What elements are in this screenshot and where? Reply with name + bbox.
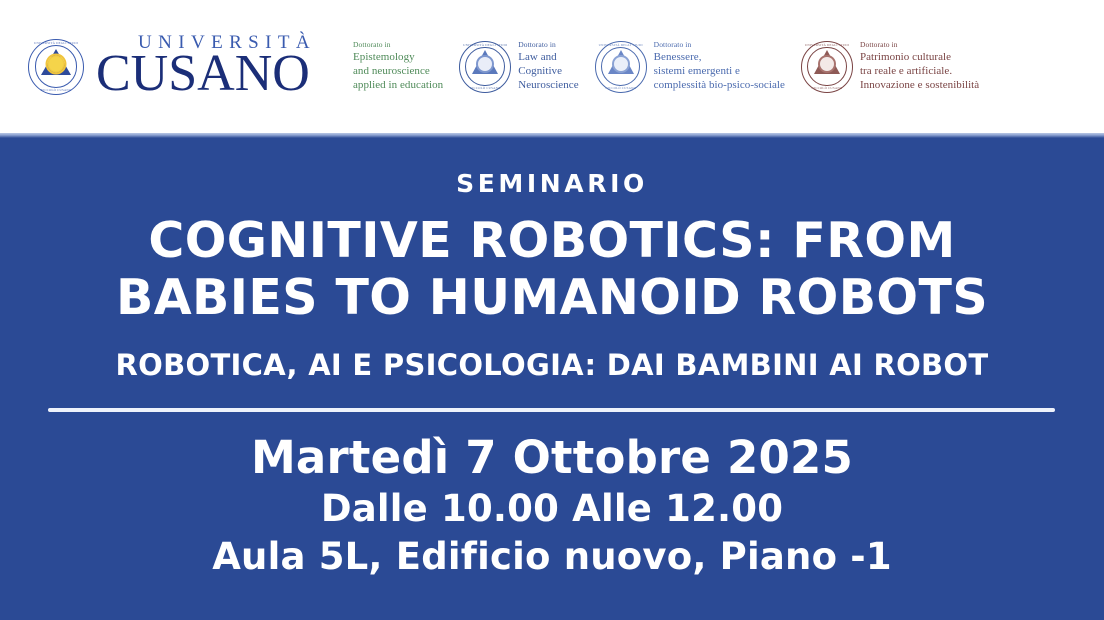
doctorate-block-epistemology: Dottorato in Epistemology and neuroscien… (346, 28, 443, 106)
cusano-seal-icon-benessere: UNIVERSITÀ DEGLI STUDI NICCOLÒ CUSANO (595, 41, 647, 93)
seminar-time: Dalle 10.00 Alle 12.00 (0, 487, 1104, 531)
doctorate-text: Dottorato in Benessere, sistemi emergent… (654, 40, 785, 92)
seal-text-top: UNIVERSITÀ DEGLI STUDI (801, 43, 853, 47)
doctorate-name-line-1: Patrimonio culturale (860, 51, 979, 65)
doctorate-text: Dottorato in Law and Cognitive Neuroscie… (518, 40, 578, 92)
doctorate-name-line-2: Cognitive (518, 65, 578, 79)
sun-face-icon (614, 57, 628, 71)
header-logo-bar: UNIVERSITÀ DEGLI STUDI NICCOLÒ CUSANO UN… (0, 0, 1104, 133)
doctorate-text: Dottorato in Patrimonio culturale tra re… (860, 40, 979, 92)
cusano-seal-icon-law: UNIVERSITÀ DEGLI STUDI NICCOLÒ CUSANO (459, 41, 511, 93)
doctorate-block-law-cognitive-neuroscience: UNIVERSITÀ DEGLI STUDI NICCOLÒ CUSANO Do… (459, 28, 578, 106)
doctorate-name-line-1: Law and (518, 51, 578, 65)
seminar-title-line-1: COGNITIVE ROBOTICS: FROM (0, 213, 1104, 270)
doctorate-kicker: Dottorato in (860, 40, 979, 49)
doctorate-kicker: Dottorato in (518, 40, 578, 49)
doctorate-name-line-3: complessità bio-psico-sociale (654, 79, 785, 93)
doctorate-name-line-3: Neuroscience (518, 79, 578, 93)
seal-text-top: UNIVERSITÀ DEGLI STUDI (459, 43, 511, 47)
university-wordmark: UNIVERSITÀ CUSANO (96, 33, 316, 100)
divider (48, 408, 1055, 412)
wordmark-cusano: CUSANO (96, 48, 316, 100)
doctorate-block-benessere: UNIVERSITÀ DEGLI STUDI NICCOLÒ CUSANO Do… (595, 28, 785, 106)
doctorate-kicker: Dottorato in (353, 40, 443, 49)
cusano-seal-icon-patrimonio: UNIVERSITÀ DEGLI STUDI NICCOLÒ CUSANO (801, 41, 853, 93)
seminar-kicker: SEMINARIO (0, 169, 1104, 198)
seal-text-bottom: NICCOLÒ CUSANO (801, 86, 853, 90)
doctorate-name-line-3: Innovazione e sostenibilità (860, 79, 979, 93)
seal-text-top: UNIVERSITÀ DEGLI STUDI (595, 43, 647, 47)
seal-text-bottom: NICCOLÒ CUSANO (459, 86, 511, 90)
seminar-location: Aula 5L, Edificio nuovo, Piano -1 (0, 535, 1104, 579)
doctorate-name-line-1: Benessere, (654, 51, 785, 65)
doctorate-name-line-1: Epistemology (353, 51, 443, 65)
doctorate-name-line-3: applied in education (353, 79, 443, 93)
universita-cusano-seal-icon: UNIVERSITÀ DEGLI STUDI NICCOLÒ CUSANO (28, 39, 84, 95)
doctorate-block-patrimonio-culturale: UNIVERSITÀ DEGLI STUDI NICCOLÒ CUSANO Do… (801, 28, 979, 106)
seminar-title-line-2: BABIES TO HUMANOID ROBOTS (0, 270, 1104, 327)
sun-face-icon (820, 57, 834, 71)
doctorate-kicker: Dottorato in (654, 40, 785, 49)
seal-text-bottom: NICCOLÒ CUSANO (595, 86, 647, 90)
doctorate-name-line-2: sistemi emergenti e (654, 65, 785, 79)
seminar-date: Martedì 7 Ottobre 2025 (0, 433, 1104, 483)
seminar-title: COGNITIVE ROBOTICS: FROM BABIES TO HUMAN… (0, 213, 1104, 327)
seminar-banner: SEMINARIO COGNITIVE ROBOTICS: FROM BABIE… (0, 133, 1104, 620)
doctorate-text: Dottorato in Epistemology and neuroscien… (353, 40, 443, 92)
doctorate-name-line-2: and neuroscience (353, 65, 443, 79)
seminar-details: Martedì 7 Ottobre 2025 Dalle 10.00 Alle … (0, 433, 1104, 579)
sun-face-icon (478, 57, 492, 71)
sun-face-icon (48, 56, 65, 73)
university-logo: UNIVERSITÀ DEGLI STUDI NICCOLÒ CUSANO UN… (28, 28, 316, 106)
seal-text-bottom: NICCOLÒ CUSANO (28, 88, 84, 92)
seal-text-top: UNIVERSITÀ DEGLI STUDI (28, 41, 84, 45)
seminar-poster: UNIVERSITÀ DEGLI STUDI NICCOLÒ CUSANO UN… (0, 0, 1104, 620)
doctorate-name-line-2: tra reale e artificiale. (860, 65, 979, 79)
seminar-subtitle: ROBOTICA, AI E PSICOLOGIA: DAI BAMBINI A… (0, 348, 1104, 382)
